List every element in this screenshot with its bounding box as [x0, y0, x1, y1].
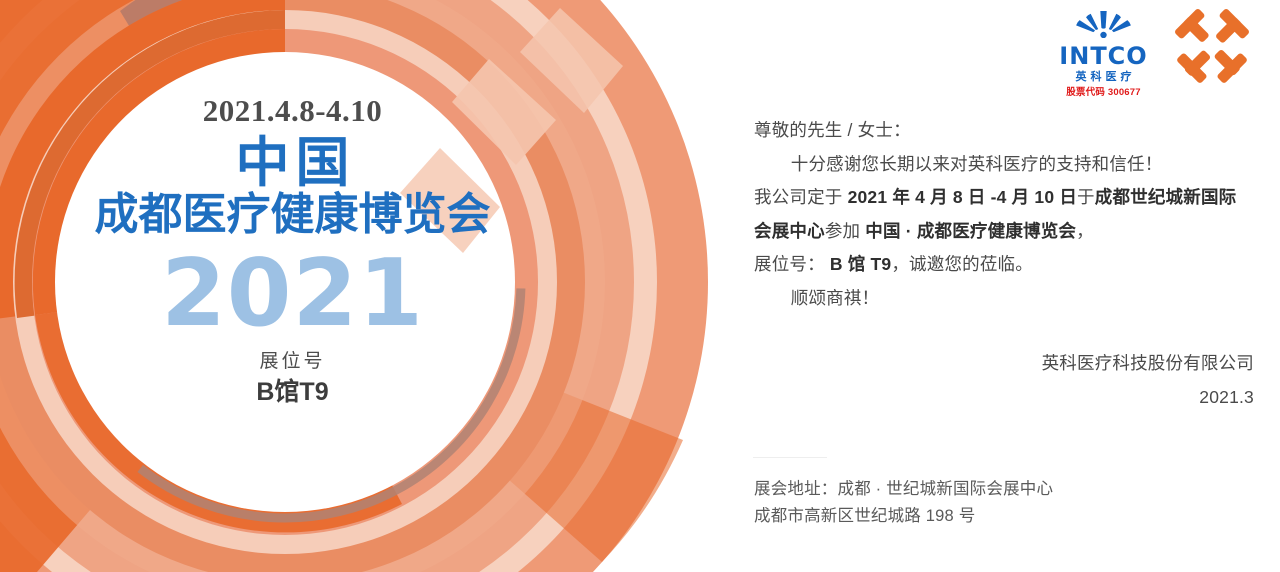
letter-date: 2021.3 — [754, 381, 1254, 415]
intco-chinese-name: 英科医疗 — [1051, 72, 1156, 83]
letter-paragraph-booth: 展位号： B 馆 T9，诚邀您的莅临。 — [754, 248, 1254, 282]
intco-stock-code: 股票代码 300677 — [1051, 88, 1156, 98]
letter-p2-booth: B 馆 T9 — [825, 254, 892, 274]
letter-p2-a: 展位号： — [754, 254, 825, 274]
letter-thanks: 十分感谢您长期以来对英科医疗的支持和信任！ — [754, 148, 1254, 182]
pinwheel-logo-icon — [1174, 8, 1250, 88]
poster-text-block: 2021.4.8-4.10 中国 成都医疗健康博览会 2021 展位号 B馆T9 — [60, 95, 525, 405]
letter-closing: 顺颂商祺！ — [754, 282, 1254, 316]
year-display: 2021 — [60, 247, 525, 340]
letter-body: 尊敬的先生 / 女士： 十分感谢您长期以来对英科医疗的支持和信任！ 我公司定于 … — [754, 114, 1254, 316]
venue-address-line-2: 成都市高新区世纪城路 198 号 — [754, 503, 1254, 530]
intco-wordmark: INTCO — [1051, 44, 1156, 68]
letter-p1-dates: 2021 年 4 月 8 日 -4 月 10 日 — [848, 187, 1077, 207]
letter-panel: INTCO 英科医疗 股票代码 300677 — [740, 0, 1280, 572]
venue-info: 展会地址：成都 · 世纪城新国际会展中心 成都市高新区世纪城路 198 号 — [754, 476, 1254, 529]
company-name: 英科医疗科技股份有限公司 — [754, 347, 1254, 381]
letter-salutation: 尊敬的先生 / 女士： — [754, 114, 1254, 148]
country-title: 中国 — [60, 134, 525, 192]
logo-row: INTCO 英科医疗 股票代码 300677 — [1051, 8, 1250, 98]
letter-p1-e: 参加 — [825, 221, 865, 241]
signature-block: 英科医疗科技股份有限公司 2021.3 — [754, 347, 1256, 414]
letter-p1-expo: 中国 · 成都医疗健康博览会 — [865, 221, 1076, 241]
invitation-poster: 2021.4.8-4.10 中国 成都医疗健康博览会 2021 展位号 B馆T9 — [0, 0, 1280, 572]
expo-title: 成都医疗健康博览会 — [60, 190, 525, 241]
sunburst-icon — [1051, 8, 1156, 38]
event-date: 2021.4.8-4.10 — [60, 95, 525, 126]
letter-p1-c: 于 — [1077, 187, 1095, 207]
letter-p2-c: ，诚邀您的莅临。 — [891, 254, 1033, 274]
intco-logo: INTCO 英科医疗 股票代码 300677 — [1051, 8, 1156, 98]
booth-number: B馆T9 — [60, 380, 525, 405]
letter-p1-g: ， — [1076, 221, 1094, 241]
letter-paragraph-main: 我公司定于 2021 年 4 月 8 日 -4 月 10 日于成都世纪城新国际会… — [754, 181, 1254, 248]
booth-label: 展位号 — [60, 352, 525, 371]
letter-p1-a: 我公司定于 — [754, 187, 848, 207]
venue-address-line-1: 展会地址：成都 · 世纪城新国际会展中心 — [754, 476, 1254, 503]
footer-divider — [753, 457, 827, 458]
